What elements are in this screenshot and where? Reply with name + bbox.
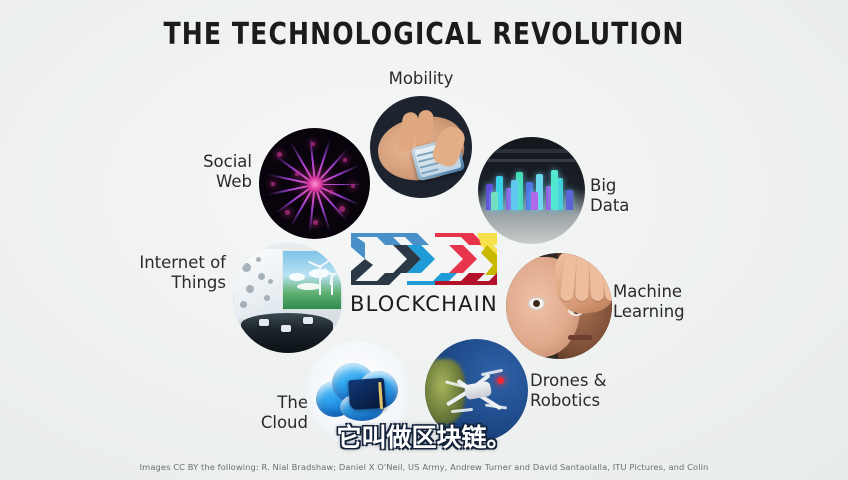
drone-led <box>497 377 504 384</box>
slide-canvas: THE TECHNOLOGICAL REVOLUTION Mobility So… <box>0 0 848 480</box>
iot-device <box>259 319 269 326</box>
glow-column <box>566 190 573 210</box>
turbine-blade <box>308 261 321 268</box>
node-image-machine-learning[interactable] <box>506 253 612 359</box>
node-image-big-data[interactable] <box>478 137 585 244</box>
network-node <box>277 152 282 157</box>
network-node <box>295 172 299 176</box>
mouth-shape <box>568 335 592 340</box>
exhibit-table <box>241 313 333 353</box>
frosted-glass-panel <box>234 249 282 319</box>
network-node <box>313 220 318 225</box>
node-label-machine-learning: Machine Learning <box>613 282 743 322</box>
node-label-internet-of-things: Internet of Things <box>108 253 226 293</box>
pupil-shape <box>533 300 540 307</box>
glow-column <box>511 180 518 210</box>
ceiling-rail <box>478 159 585 162</box>
foliage-blur <box>425 359 465 425</box>
finger-shape <box>575 253 590 301</box>
display-screen <box>283 251 341 309</box>
drone-propeller <box>485 403 507 409</box>
icon-speck <box>242 263 251 272</box>
node-image-internet-of-things[interactable] <box>233 243 343 353</box>
turbine-blade <box>319 259 331 268</box>
iot-device <box>303 317 313 324</box>
node-label-mobility: Mobility <box>370 69 472 89</box>
blockchain-wordmark: BLOCKCHAIN <box>349 292 499 316</box>
glow-column <box>551 170 558 210</box>
network-node <box>329 190 333 194</box>
network-node <box>351 184 355 188</box>
glow-column <box>491 192 498 210</box>
icon-speck <box>264 295 270 301</box>
memory-card-icon <box>348 378 386 410</box>
cloud-shape <box>297 283 321 290</box>
icon-speck <box>246 285 254 293</box>
network-node <box>311 142 315 146</box>
icon-speck <box>240 301 247 308</box>
icon-speck <box>268 279 273 284</box>
icon-speck <box>256 257 261 262</box>
node-label-big-data: Big Data <box>590 176 680 216</box>
network-node <box>271 182 275 186</box>
node-image-social-web[interactable] <box>259 128 370 239</box>
network-node <box>285 210 290 215</box>
glow-column <box>531 192 538 210</box>
image-credits: Images CC BY the following: R. Nial Brad… <box>0 462 848 472</box>
ceiling-rail <box>478 149 585 153</box>
icon-speck <box>258 273 265 280</box>
node-label-drones-robotics: Drones & Robotics <box>530 371 660 411</box>
iot-device <box>281 325 291 332</box>
cloud-shape <box>289 273 305 281</box>
page-title: THE TECHNOLOGICAL REVOLUTION <box>30 17 819 52</box>
turbine-blade <box>332 271 342 276</box>
network-core <box>307 176 323 192</box>
card-pin <box>379 397 383 409</box>
network-node <box>343 158 347 162</box>
drone-propeller <box>481 369 503 377</box>
network-node <box>339 206 345 212</box>
video-subtitle: 它叫做区块链。 <box>0 418 848 454</box>
blockchain-logo-icon <box>349 231 499 287</box>
node-image-mobility[interactable] <box>370 96 472 198</box>
node-label-social-web: Social Web <box>160 152 252 192</box>
